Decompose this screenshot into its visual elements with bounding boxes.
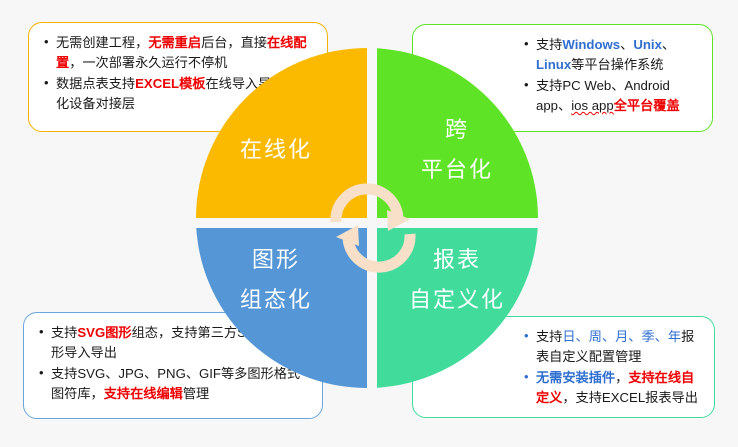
highlight-blue: Unix	[633, 37, 662, 52]
list-item: 支持日、周、月、季、年报表自定义配置管理	[523, 327, 702, 367]
highlight-red: 支持在线编辑	[104, 386, 183, 401]
quadrant-graphics[interactable]	[196, 228, 367, 398]
quadrant-online-fill	[196, 48, 367, 218]
quadrant-report-fill	[377, 228, 538, 388]
highlight-red: 无需重启	[148, 35, 201, 50]
feature-list-top-right: 支持Windows、Unix、Linux等平台操作系统 支持PC Web、And…	[523, 35, 700, 116]
quadrant-report[interactable]	[377, 228, 548, 398]
quadrant-graphics-fill	[196, 228, 367, 388]
list-item: 支持PC Web、Android app、ios app全平台覆盖	[523, 76, 700, 116]
list-item: 支持Windows、Unix、Linux等平台操作系统	[523, 35, 700, 75]
highlight-blue: Windows	[562, 37, 620, 52]
list-item: 无需安装插件，支持在线自定义，支持EXCEL报表导出	[523, 368, 702, 408]
highlight-red: SVG图形	[77, 325, 131, 340]
highlight-blue: 日、周、月、季、年	[562, 329, 681, 344]
feature-list-bottom-right: 支持日、周、月、季、年报表自定义配置管理 无需安装插件，支持在线自定义，支持EX…	[523, 327, 702, 408]
highlight-red: EXCEL模板	[135, 76, 205, 91]
quadrant-online[interactable]	[196, 48, 367, 218]
quadrant-platform-fill	[377, 48, 538, 218]
circle-diagram	[196, 48, 548, 398]
highlight-red: 全平台覆盖	[614, 98, 680, 113]
quadrant-platform[interactable]	[377, 48, 548, 218]
spellcheck-underline: ios app	[571, 98, 614, 113]
